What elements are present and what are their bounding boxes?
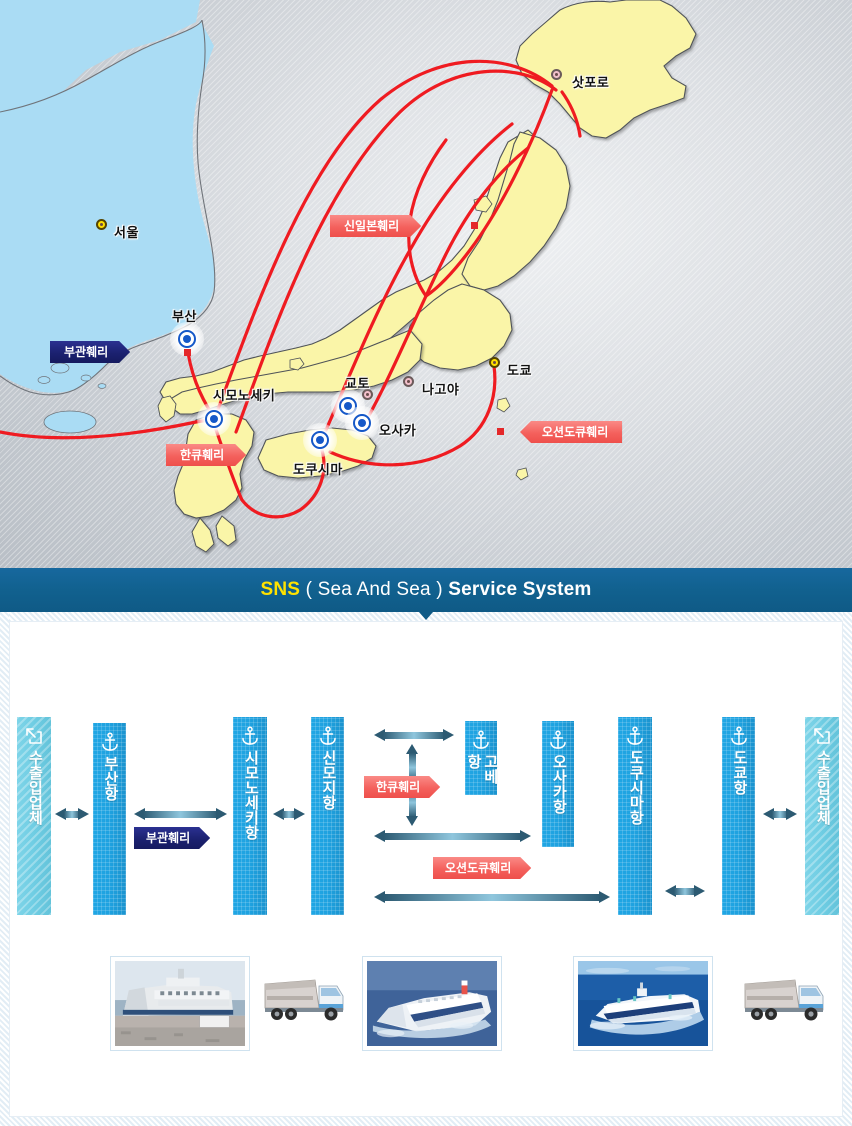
port-marker-shimonoseki bbox=[197, 402, 231, 436]
route-west-open bbox=[0, 420, 214, 438]
flow-node-export-right[interactable]: 수출입업체 bbox=[805, 717, 839, 915]
flow-node-export-left[interactable]: 수출입업체 bbox=[17, 717, 51, 915]
photo-strip bbox=[10, 940, 844, 1060]
photo-truck-left bbox=[263, 974, 349, 1024]
route-endpoint-square-bugwan bbox=[184, 349, 191, 356]
photo-truck-right bbox=[743, 974, 829, 1024]
flow-node-shinmoji[interactable]: 신모지항 bbox=[311, 717, 344, 915]
flow-node-label: 도쿠시마항 bbox=[627, 750, 644, 825]
flow-node-shimonoseki[interactable]: 시모노세키항 bbox=[233, 717, 267, 915]
flow-node-label: 신모지항 bbox=[319, 750, 336, 810]
anchor-icon bbox=[471, 730, 491, 750]
export-icon bbox=[812, 726, 832, 746]
photo-ferry-docked bbox=[110, 956, 250, 1051]
flow-node-label: 고베항 bbox=[464, 754, 498, 795]
section-banner: SNS ( Sea And Sea ) Service System bbox=[0, 568, 852, 612]
arrow-tokushima-tokyo bbox=[665, 885, 705, 898]
export-icon bbox=[24, 726, 44, 746]
photo-ferry-sea-blue bbox=[362, 956, 502, 1051]
flow-tag-hankyu[interactable]: 한큐훼리 bbox=[364, 776, 440, 798]
city-marker-nagoya bbox=[403, 376, 414, 387]
izu-islands bbox=[497, 398, 510, 412]
anchor-icon bbox=[100, 732, 120, 752]
service-system-panel: 수출입업체 부산항 시모노세키항 신모지항 bbox=[0, 612, 852, 1126]
kyushu-tail2 bbox=[216, 516, 236, 546]
map-route-flag-shinnihon[interactable]: 신일본훼리 bbox=[330, 215, 421, 237]
arrow-shinmoji-osaka bbox=[374, 830, 531, 843]
flow-tag-bugwan[interactable]: 부관훼리 bbox=[134, 827, 210, 849]
flow-node-label: 수출입업체 bbox=[814, 750, 831, 825]
arrow-shinmoji-kobe bbox=[374, 729, 454, 742]
flow-node-label: 오사카항 bbox=[550, 754, 567, 814]
map-route-flag-oceandokyu[interactable]: 오션도큐훼리 bbox=[520, 421, 622, 443]
banner-title-bold: Service System bbox=[448, 579, 591, 600]
anchor-icon bbox=[240, 726, 260, 746]
flow-node-kobe[interactable]: 고베항 bbox=[465, 721, 497, 795]
city-marker-seoul bbox=[96, 219, 107, 230]
flow-node-tokushima[interactable]: 도쿠시마항 bbox=[618, 717, 652, 915]
map-route-flag-bugwan[interactable]: 부관훼리 bbox=[50, 341, 130, 363]
flow-node-busan[interactable]: 부산항 bbox=[93, 723, 126, 915]
photo-ferry-sea-blue-image bbox=[367, 961, 497, 1046]
banner-title-middle: ( Sea And Sea ) bbox=[300, 579, 448, 600]
map-graphics bbox=[0, 0, 852, 568]
flow-node-label: 부산항 bbox=[101, 756, 118, 801]
anchor-icon bbox=[548, 730, 568, 750]
flow-node-label: 수출입업체 bbox=[26, 750, 43, 825]
jeju-island bbox=[44, 411, 96, 433]
route-endpoint-square-shinnihon bbox=[471, 222, 478, 229]
banner-title-sns: SNS bbox=[260, 579, 300, 600]
map-route-flag-hankyu[interactable]: 한큐훼리 bbox=[166, 444, 246, 466]
panel-inner: 수출입업체 부산항 시모노세키항 신모지항 bbox=[9, 621, 843, 1117]
panel-border-bottom bbox=[0, 1117, 852, 1126]
photo-ferry-open-sea bbox=[573, 956, 713, 1051]
small-isl-1 bbox=[516, 468, 528, 480]
flow-node-tokyo[interactable]: 도쿄항 bbox=[722, 717, 755, 915]
arrow-busan-shimonoseki bbox=[134, 808, 227, 821]
flow-node-label: 도쿄항 bbox=[730, 750, 747, 795]
anchor-icon bbox=[729, 726, 749, 746]
arrow-shinmoji-tokushima bbox=[374, 891, 610, 904]
banner-title: SNS ( Sea And Sea ) Service System bbox=[260, 579, 591, 601]
city-marker-sapporo bbox=[551, 69, 562, 80]
panel-border-right bbox=[843, 612, 852, 1126]
anchor-icon bbox=[625, 726, 645, 746]
city-marker-tokyo bbox=[489, 357, 500, 368]
port-marker-osaka bbox=[345, 406, 379, 440]
flow-node-osaka[interactable]: 오사카항 bbox=[542, 721, 574, 847]
arrow-tokyo-export bbox=[763, 808, 797, 821]
kyushu-tail bbox=[192, 518, 214, 552]
map-section: 서울 삿포로 교토 나고야 도쿄 부산 시모노세키 오사카 도쿠시마 부관훼리 … bbox=[0, 0, 852, 568]
photo-ferry-open-sea-image bbox=[578, 961, 708, 1046]
flow-node-label: 시모노세키항 bbox=[242, 750, 259, 840]
tsushima-island bbox=[158, 396, 176, 422]
anchor-icon bbox=[318, 726, 338, 746]
panel-border-left bbox=[0, 612, 9, 1126]
port-marker-tokushima bbox=[303, 423, 337, 457]
arrow-shimonoseki-shinmoji bbox=[273, 808, 305, 821]
service-flow-diagram: 수출입업체 부산항 시모노세키항 신모지항 bbox=[10, 622, 844, 952]
route-endpoint-square-oceandokyu bbox=[497, 428, 504, 435]
arrow-export-busan bbox=[55, 808, 89, 821]
photo-ferry-docked-image bbox=[115, 961, 245, 1046]
banner-notch-arrow bbox=[419, 612, 433, 620]
flow-tag-oceandokyu[interactable]: 오션도큐훼리 bbox=[433, 857, 531, 879]
